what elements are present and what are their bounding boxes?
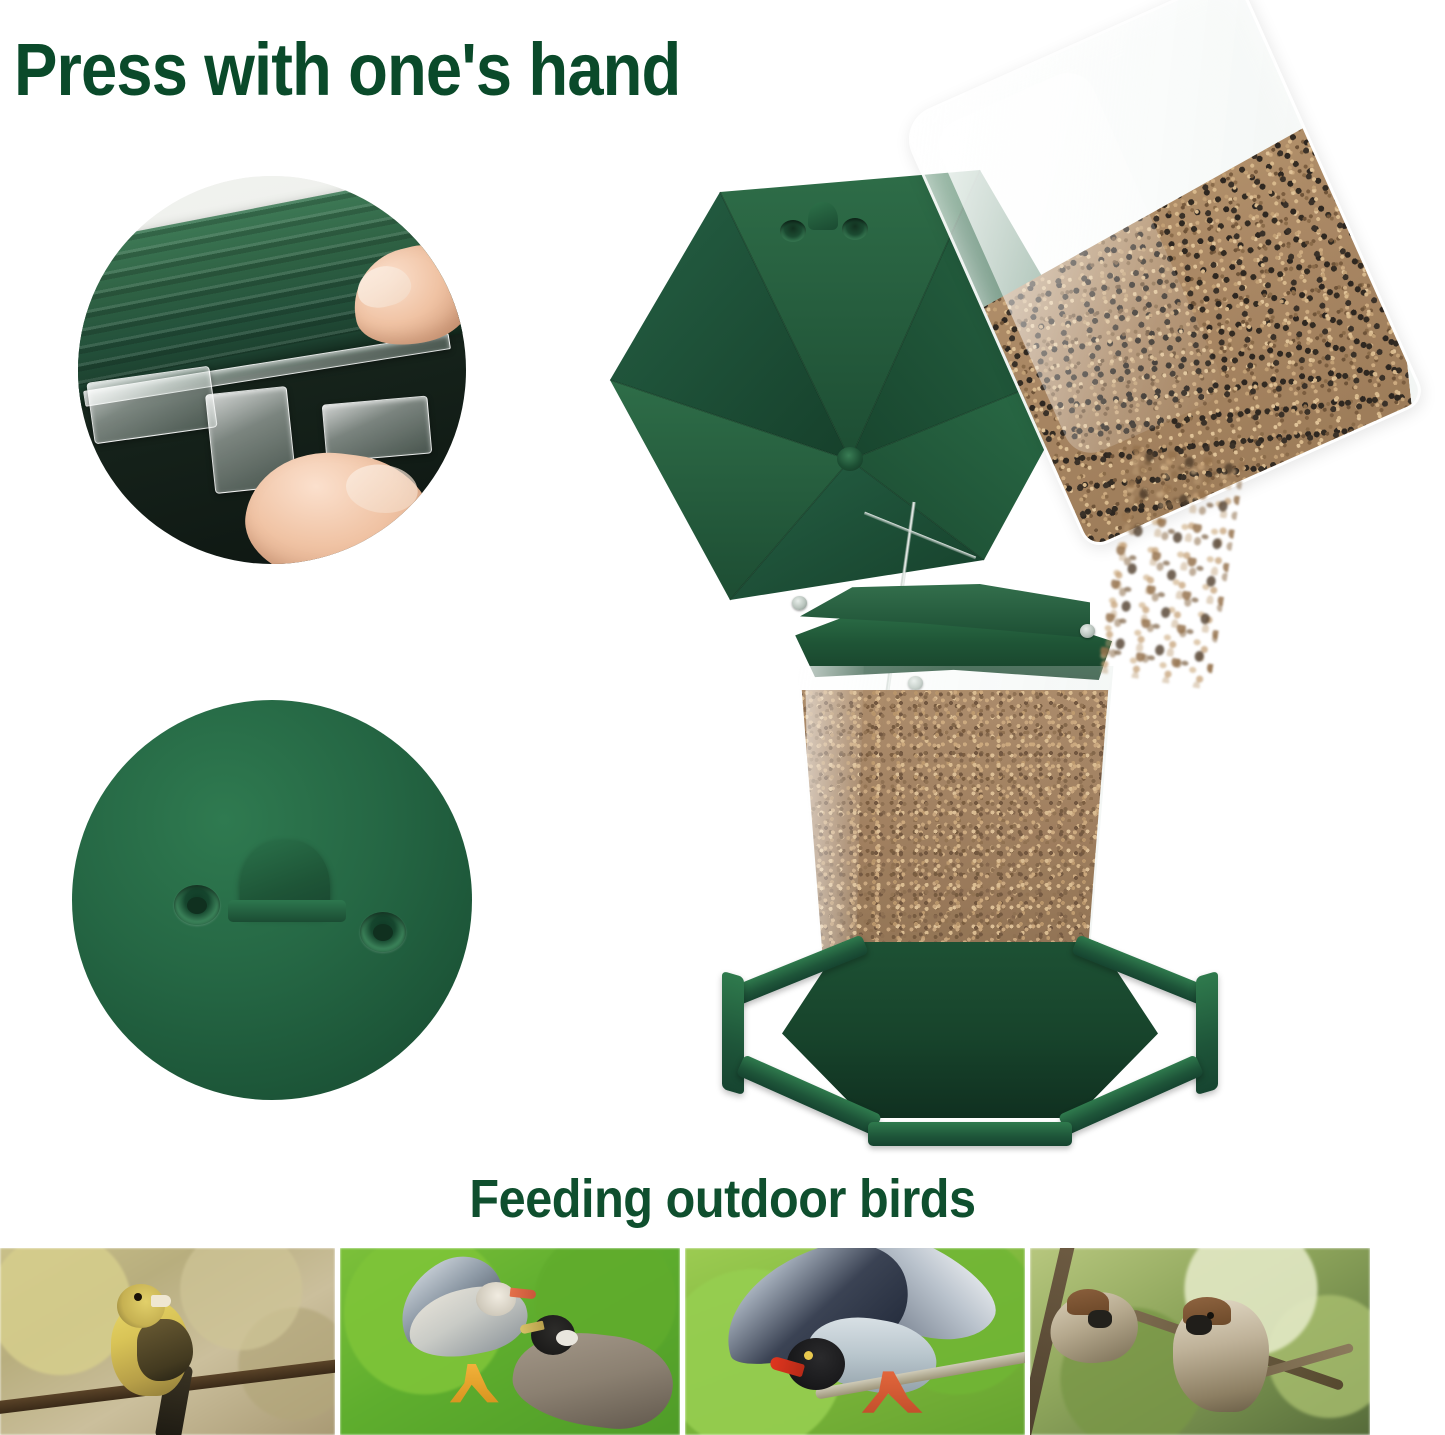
bird-eye [804, 1351, 813, 1360]
feeder-tray [720, 916, 1220, 1166]
screw [792, 596, 807, 610]
bird-eye [1207, 1312, 1214, 1319]
perch-bar [736, 1054, 882, 1135]
bird-eye [134, 1293, 142, 1301]
bird-photo-blue-magpie [685, 1248, 1025, 1435]
roof-grommet-hole [780, 220, 806, 242]
perch-bar [731, 935, 868, 1006]
perch-bar [1071, 935, 1208, 1006]
bird-photo-sparrows [1030, 1248, 1370, 1435]
inset-roof-top-detail [72, 700, 472, 1100]
bird-photo-greenfinch [0, 1248, 335, 1435]
grommet-hole [174, 885, 220, 925]
hanging-tab [240, 840, 330, 916]
bird-throat-patch [1088, 1310, 1112, 1328]
screw [1080, 624, 1095, 638]
product-infographic: Press with one's hand [0, 0, 1445, 1435]
grommet-hole [360, 912, 406, 952]
section-caption: Feeding outdoor birds [72, 1168, 1373, 1230]
page-title: Press with one's hand [14, 33, 680, 107]
bird-photo-starlings [340, 1248, 680, 1435]
bird-beak [151, 1295, 171, 1307]
bird-head [476, 1282, 516, 1316]
perch-bar [868, 1122, 1072, 1146]
perch-bar [1058, 1054, 1204, 1135]
bird-photo-strip [0, 1248, 1445, 1435]
inset-press-closeup [78, 176, 466, 564]
perch-frame [720, 916, 1220, 1152]
roof-grommet-hole [842, 218, 868, 240]
roof-hanging-knob [808, 202, 838, 230]
